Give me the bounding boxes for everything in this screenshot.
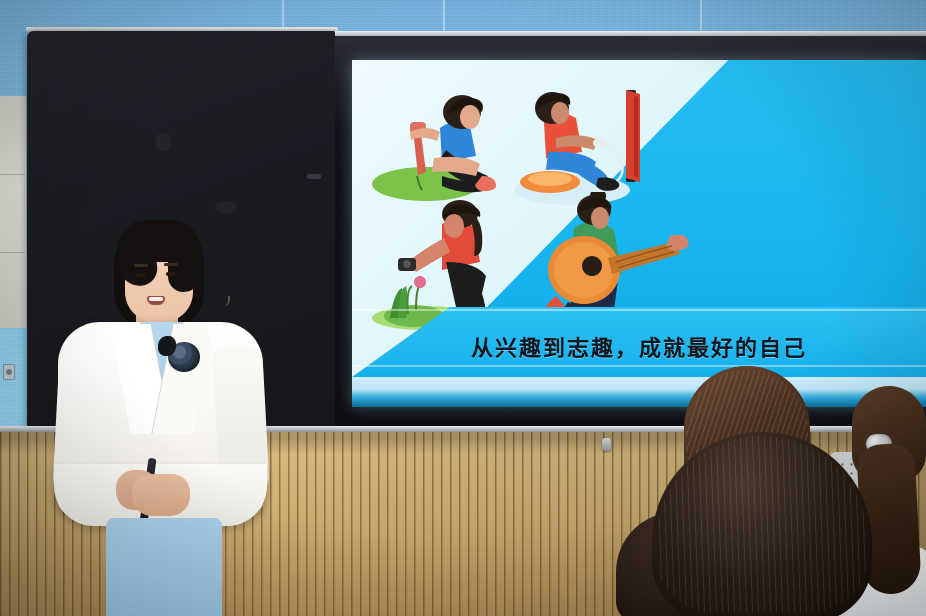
teacher xyxy=(58,218,263,616)
rail-screw xyxy=(602,438,611,451)
teacher-eye-left xyxy=(136,273,146,277)
beige-wall-panel xyxy=(0,96,26,328)
teacher-eyebrow-right xyxy=(164,263,178,266)
classroom-scene: 从兴趣到志趣，成就最好的自己 xyxy=(0,0,926,616)
teacher-mouth xyxy=(147,296,165,305)
wall-socket[interactable] xyxy=(3,364,15,380)
chalk-smudge xyxy=(155,133,171,151)
teacher-skirt xyxy=(106,518,222,616)
teacher-eyebrow-left xyxy=(134,264,148,267)
slide-accent-line xyxy=(352,309,926,311)
teacher-eye-right xyxy=(166,272,176,276)
illustration-planting xyxy=(370,84,520,204)
slide-caption: 从兴趣到志趣，成就最好的自己 xyxy=(352,331,926,363)
slide-footer-band xyxy=(352,377,926,407)
board-clip[interactable] xyxy=(307,174,321,179)
teacher-hair-sweep-right xyxy=(168,230,202,292)
slide-accent-line xyxy=(352,365,926,367)
illustration-gaming xyxy=(500,82,672,208)
teacher-brooch xyxy=(168,342,200,372)
interactive-smart-screen[interactable]: 从兴趣到志趣，成就最好的自己 xyxy=(352,60,926,407)
teacher-hand-right xyxy=(132,474,190,516)
teacher-nose xyxy=(221,296,230,306)
student-short-hair xyxy=(652,432,872,616)
chalk-smudge xyxy=(215,201,237,213)
